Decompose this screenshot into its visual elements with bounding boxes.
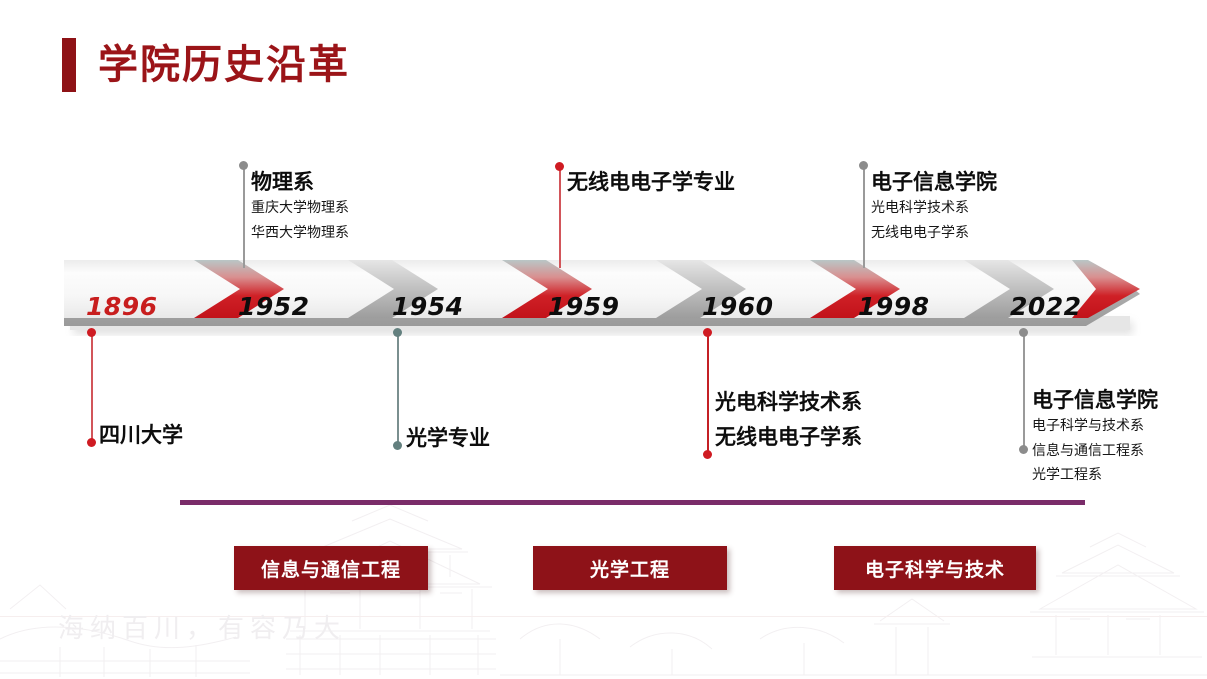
year-label-1896: 1896 bbox=[86, 292, 158, 321]
event-title-1952: 物理系 bbox=[251, 168, 349, 196]
badge-information-communication-engineering[interactable]: 信息与通信工程 bbox=[234, 546, 428, 590]
year-label-2022: 2022 bbox=[1010, 292, 1082, 321]
event-1954: 光学专业 bbox=[406, 424, 490, 452]
event-title-2022: 电子信息学院 bbox=[1032, 386, 1158, 414]
event-title-1896: 四川大学 bbox=[99, 421, 183, 449]
header-accent-bar bbox=[62, 38, 76, 92]
connector-dot-1896 bbox=[87, 438, 96, 447]
event-sub-2022-1: 信息与通信工程系 bbox=[1032, 439, 1158, 464]
connector-dot-1959 bbox=[555, 162, 564, 171]
connector-dot-1998 bbox=[859, 161, 868, 170]
badge-optical-engineering[interactable]: 光学工程 bbox=[533, 546, 727, 590]
badge-label: 电子科学与技术 bbox=[865, 555, 1005, 582]
connector-stem-1959 bbox=[559, 170, 561, 268]
connector-dot-top-2022 bbox=[1019, 328, 1028, 337]
event-2022: 电子信息学院 电子科学与技术系 信息与通信工程系 光学工程系 bbox=[1032, 386, 1158, 488]
event-title-1954: 光学专业 bbox=[406, 424, 490, 452]
connector-dot-top-1896 bbox=[87, 328, 96, 337]
badge-electronic-science-technology[interactable]: 电子科学与技术 bbox=[834, 546, 1036, 590]
event-sub-1998-0: 光电科学技术系 bbox=[871, 196, 997, 221]
event-sub-2022-2: 光学工程系 bbox=[1032, 463, 1158, 488]
connector-stem-1952 bbox=[243, 168, 245, 268]
connector-dot-1960 bbox=[703, 450, 712, 459]
page-header: 学院历史沿革 bbox=[62, 38, 350, 92]
event-sub-1952-0: 重庆大学物理系 bbox=[251, 196, 349, 221]
event-sub-1998-1: 无线电电子学系 bbox=[871, 221, 997, 246]
event-sub-1952-1: 华西大学物理系 bbox=[251, 221, 349, 246]
event-1959: 无线电电子学专业 bbox=[567, 168, 735, 196]
connector-dot-top-1954 bbox=[393, 328, 402, 337]
connector-dot-1954 bbox=[393, 441, 402, 450]
year-label-1960: 1960 bbox=[702, 292, 774, 321]
year-label-1952: 1952 bbox=[238, 292, 310, 321]
connector-dot-1952 bbox=[239, 161, 248, 170]
connector-stem-1954 bbox=[397, 332, 399, 444]
year-label-1954: 1954 bbox=[392, 292, 464, 321]
badge-label: 信息与通信工程 bbox=[261, 555, 401, 582]
event-1952: 物理系 重庆大学物理系 华西大学物理系 bbox=[251, 168, 349, 245]
event-1960: 光电科学技术系 无线电电子学系 bbox=[715, 385, 862, 454]
connector-stem-1998 bbox=[863, 168, 865, 268]
event-title-1960-line2: 无线电电子学系 bbox=[715, 420, 862, 455]
year-label-1959: 1959 bbox=[548, 292, 620, 321]
badge-label: 光学工程 bbox=[590, 555, 670, 582]
year-label-1998: 1998 bbox=[858, 292, 930, 321]
event-title-1959: 无线电电子学专业 bbox=[567, 168, 735, 196]
event-1998: 电子信息学院 光电科学技术系 无线电电子学系 bbox=[871, 168, 997, 245]
connector-dot-2022 bbox=[1019, 445, 1028, 454]
event-sub-2022-0: 电子科学与技术系 bbox=[1032, 414, 1158, 439]
connector-dot-top-1960 bbox=[703, 328, 712, 337]
section-divider bbox=[180, 500, 1085, 505]
connector-stem-2022 bbox=[1023, 332, 1025, 448]
event-1896: 四川大学 bbox=[99, 421, 183, 449]
connector-stem-1960 bbox=[707, 332, 709, 454]
event-title-1998: 电子信息学院 bbox=[871, 168, 997, 196]
connector-stem-1896 bbox=[91, 332, 93, 440]
page-title: 学院历史沿革 bbox=[98, 45, 350, 85]
watermark-motto: 海纳百川，有容乃大 bbox=[58, 608, 346, 645]
event-title-1960-line1: 光电科学技术系 bbox=[715, 385, 862, 420]
